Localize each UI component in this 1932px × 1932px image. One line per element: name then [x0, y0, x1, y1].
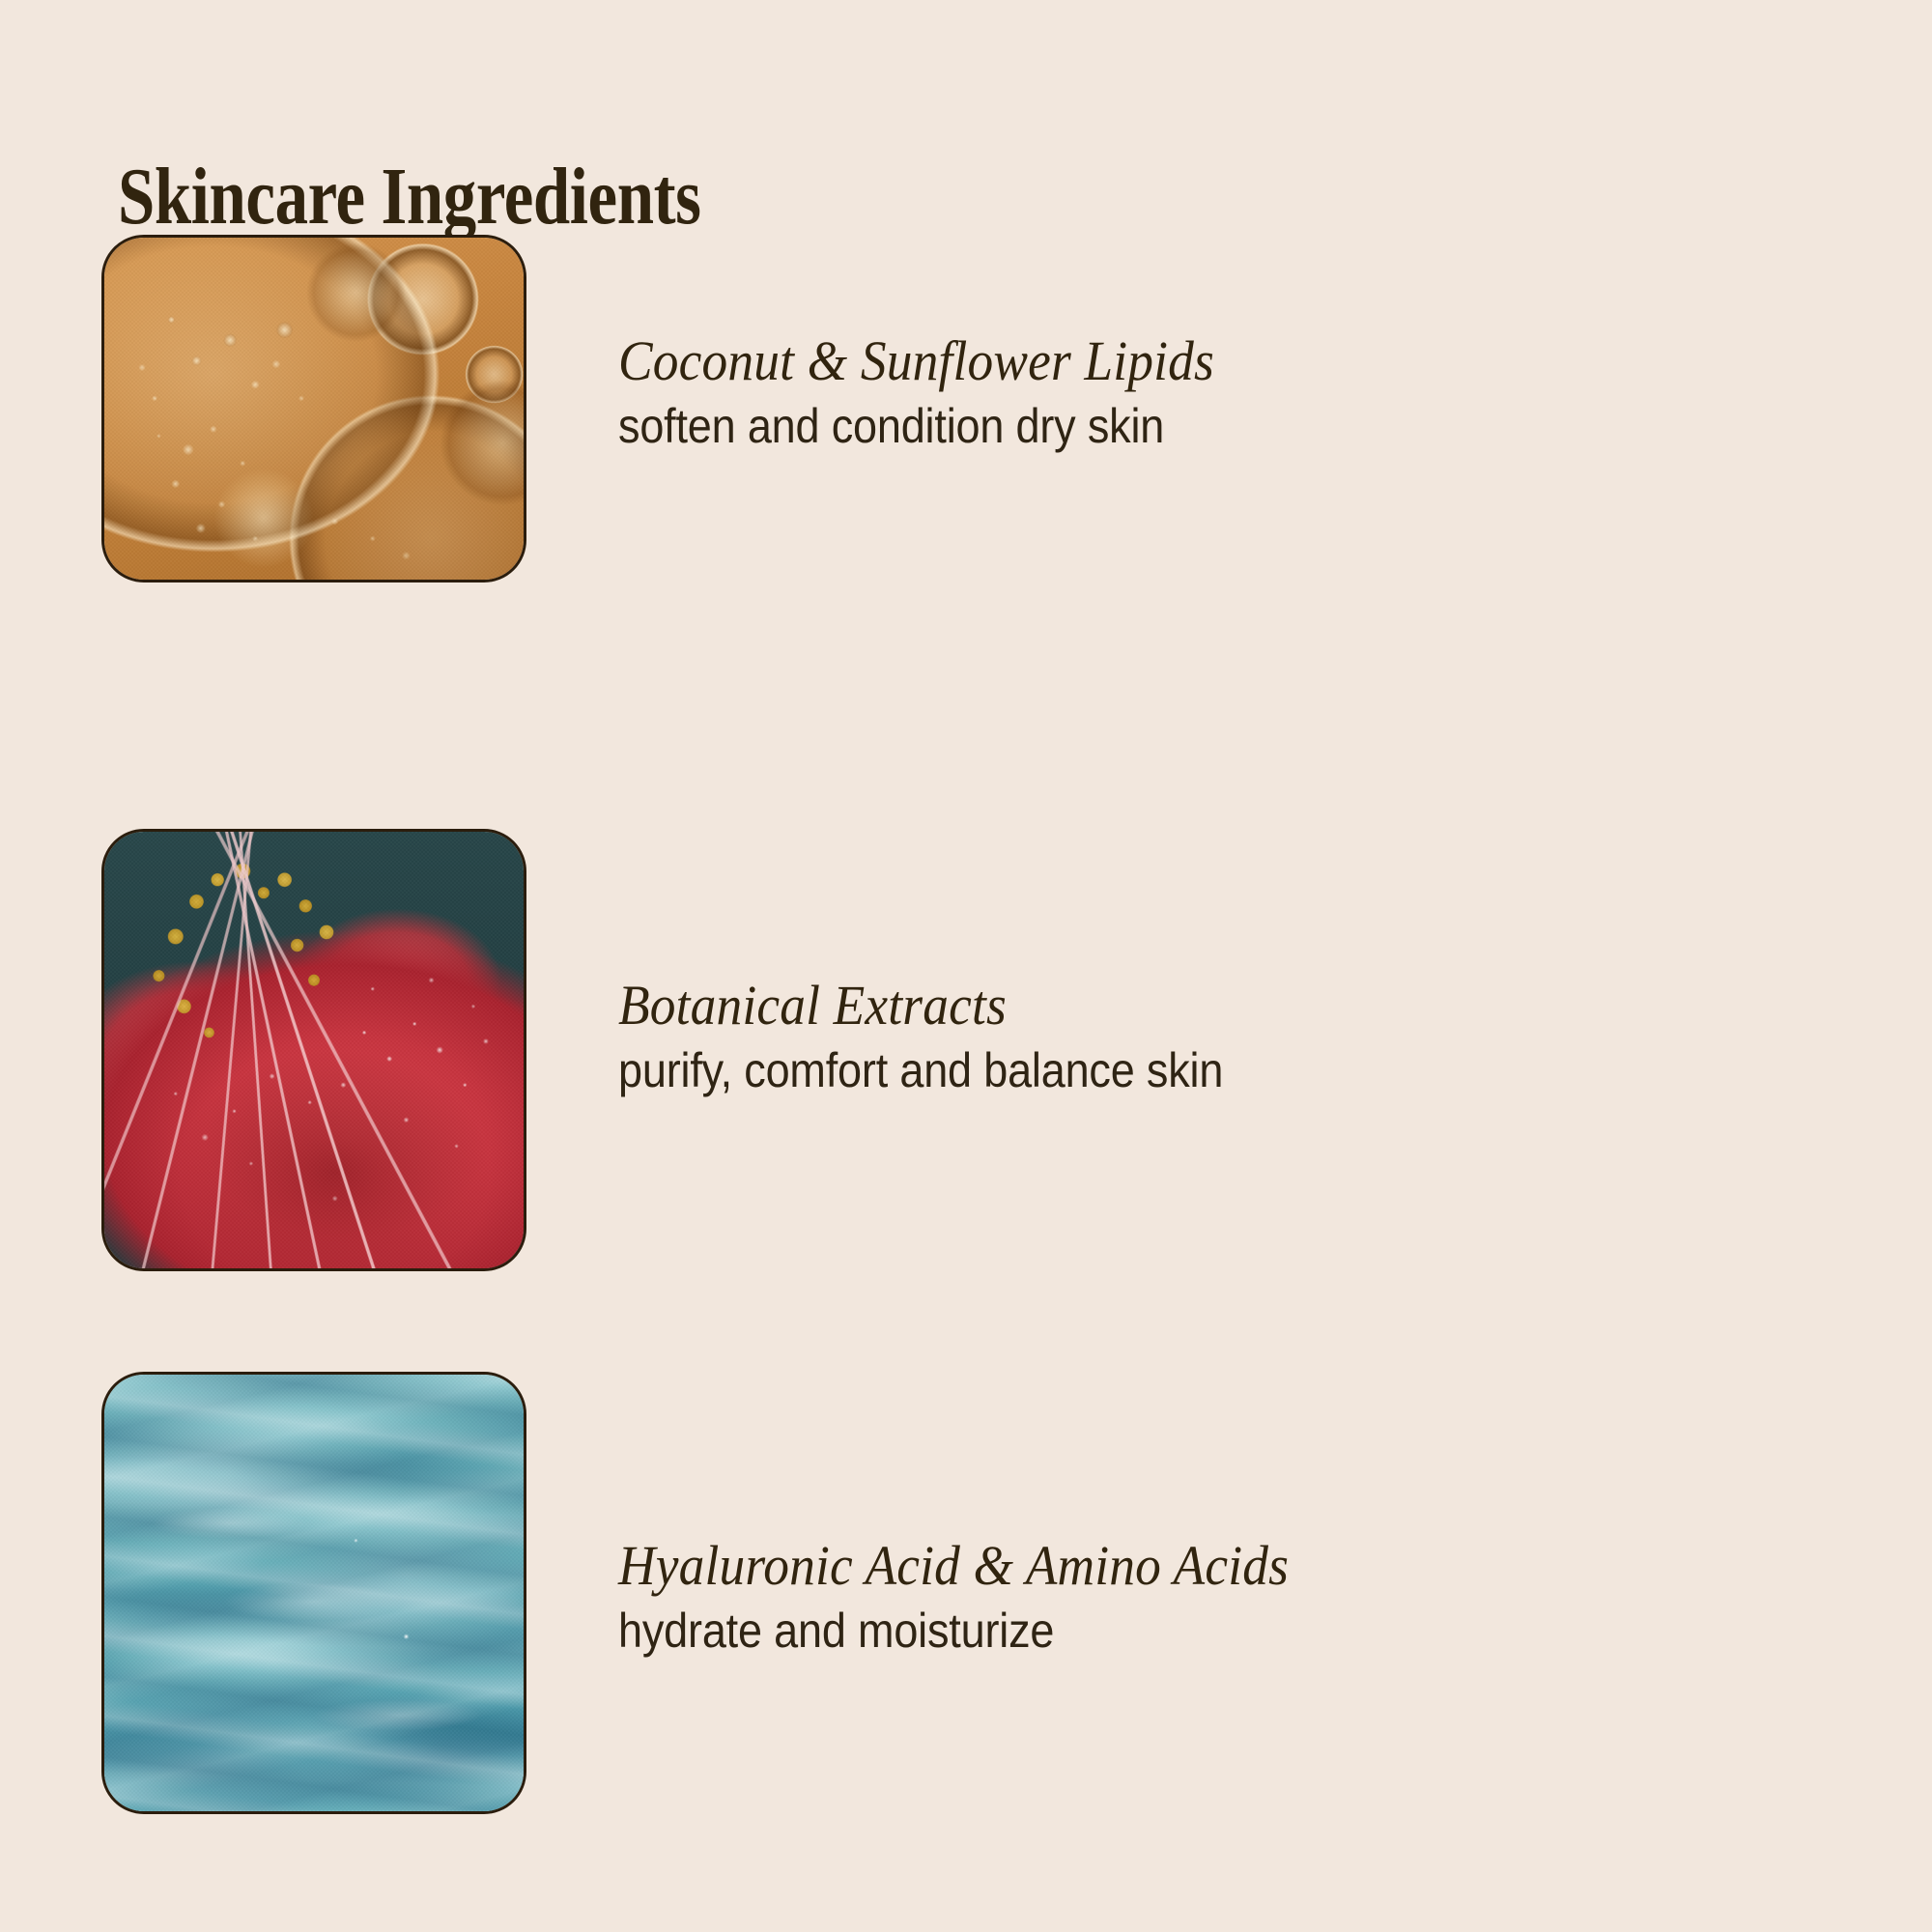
hibiscus-flower-photo — [101, 829, 526, 1271]
ingredient-row-2: Botanical Extracts purify, comfort and b… — [0, 829, 1932, 1271]
ingredient-description-3: hydrate and moisturize — [618, 1603, 1662, 1660]
ingredient-row-3: Hyaluronic Acid & Amino Acids hydrate an… — [0, 1372, 1932, 1814]
oil-bubbles-photo — [101, 235, 526, 582]
water-surface-photo — [101, 1372, 526, 1814]
ingredient-description-1: soften and condition dry skin — [618, 398, 1662, 455]
skincare-ingredients-infographic: Skincare Ingredients Coconut & Sunflower… — [0, 0, 1932, 1932]
oil-bubbles-texture — [104, 238, 524, 580]
hibiscus-flower-texture — [104, 832, 524, 1268]
ingredient-row-1: Coconut & Sunflower Lipids soften and co… — [0, 235, 1932, 582]
ingredient-description-2: purify, comfort and balance skin — [618, 1042, 1662, 1099]
ingredient-text-2: Botanical Extracts purify, comfort and b… — [618, 976, 1777, 1099]
ingredient-text-1: Coconut & Sunflower Lipids soften and co… — [618, 331, 1777, 455]
ingredient-heading-1: Coconut & Sunflower Lipids — [618, 331, 1685, 392]
ingredient-heading-3: Hyaluronic Acid & Amino Acids — [618, 1536, 1685, 1597]
ingredient-text-3: Hyaluronic Acid & Amino Acids hydrate an… — [618, 1536, 1777, 1660]
ingredient-heading-2: Botanical Extracts — [618, 976, 1685, 1037]
water-surface-texture — [104, 1375, 524, 1811]
page-title: Skincare Ingredients — [118, 156, 701, 238]
